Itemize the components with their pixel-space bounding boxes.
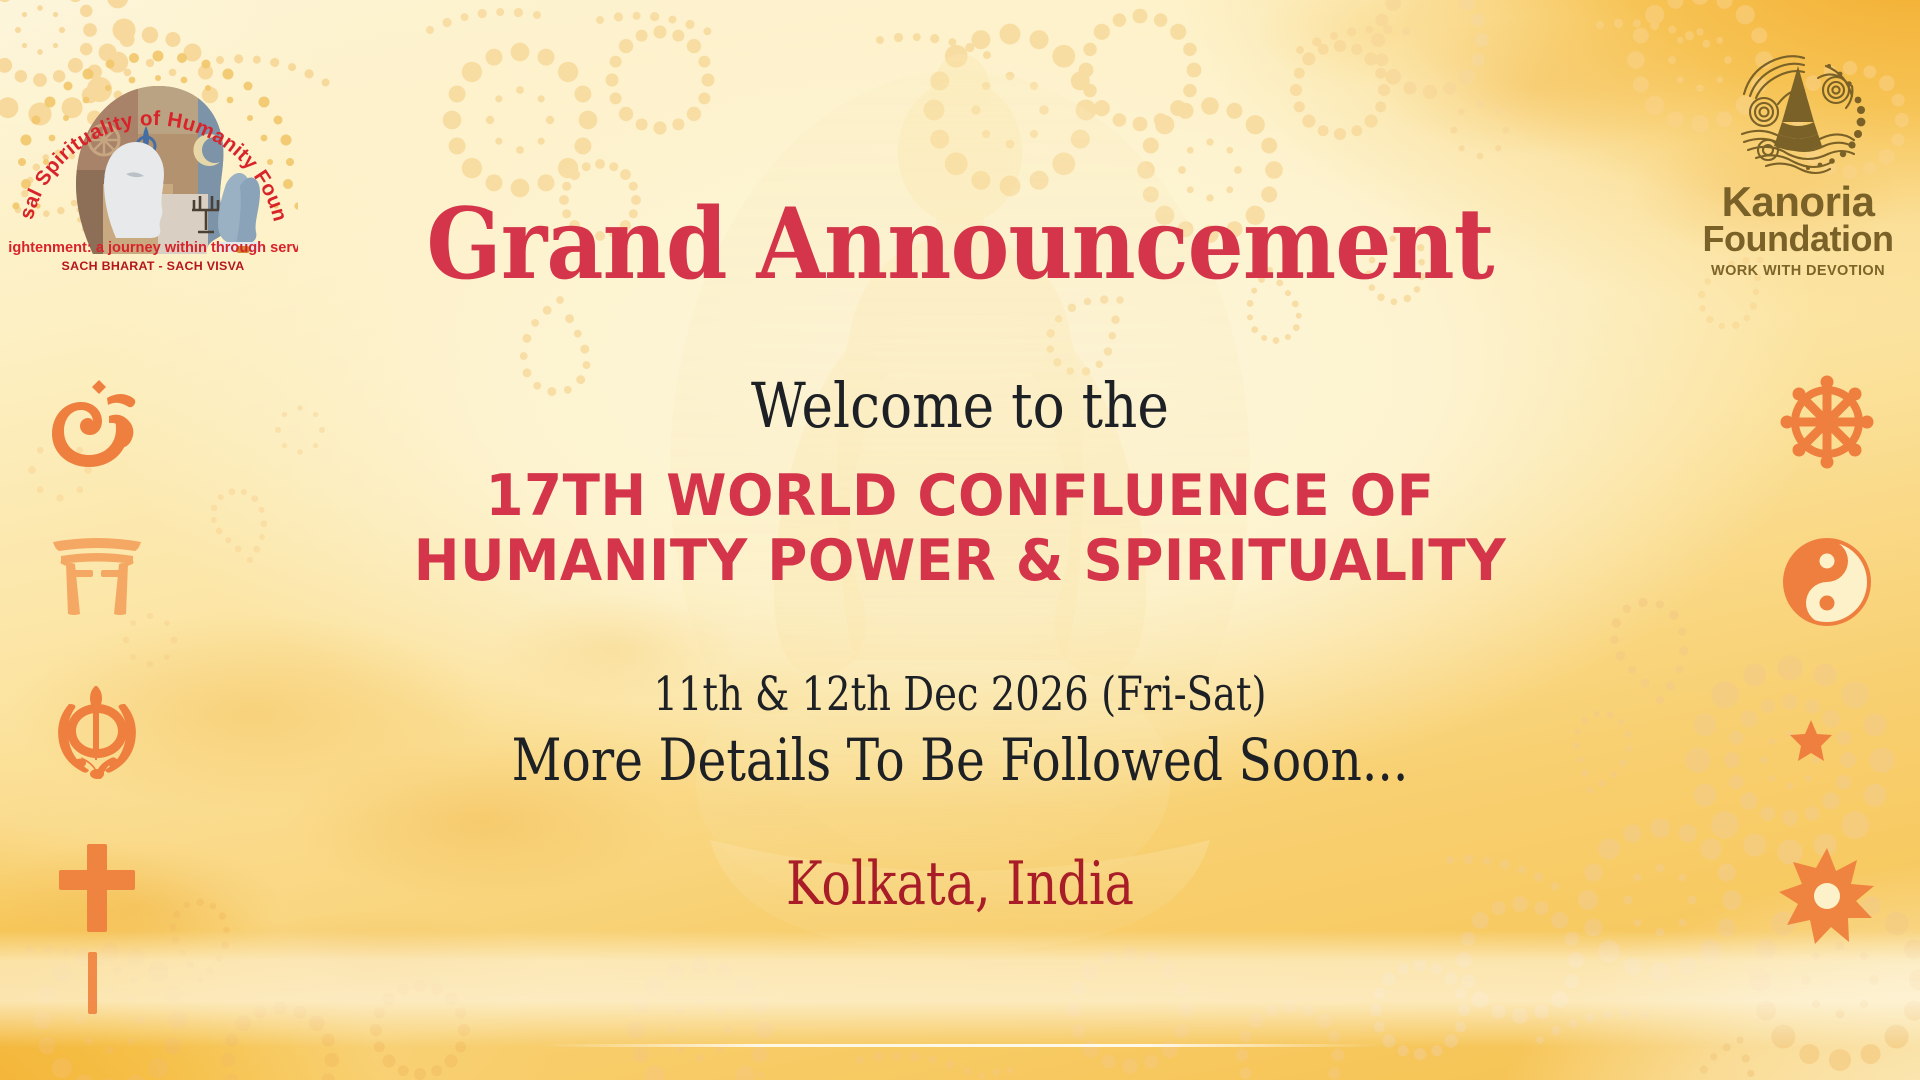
conference-title: 17TH WORLD CONFLUENCE OF HUMANITY POWER …: [38, 464, 1881, 594]
poster-text-content: Grand Announcement Welcome to the 17TH W…: [0, 0, 1920, 914]
more-details-note: More Details To Be Followed Soon...: [154, 729, 1767, 792]
headline: Grand Announcement: [96, 196, 1824, 294]
event-location: Kolkata, India: [173, 854, 1747, 914]
conference-title-line-1: 17TH WORLD CONFLUENCE OF: [38, 464, 1881, 529]
welcome-line: Welcome to the: [134, 374, 1785, 438]
city-band-divider: [540, 1044, 1380, 1047]
event-date: 11th & 12th Dec 2026 (Fri-Sat): [173, 670, 1747, 721]
conference-title-line-2: HUMANITY POWER & SPIRITUALITY: [38, 529, 1881, 594]
announcement-poster: Universal Spirituality of Humanity Found…: [0, 0, 1920, 1080]
city-highlight-band: [0, 930, 1920, 1048]
